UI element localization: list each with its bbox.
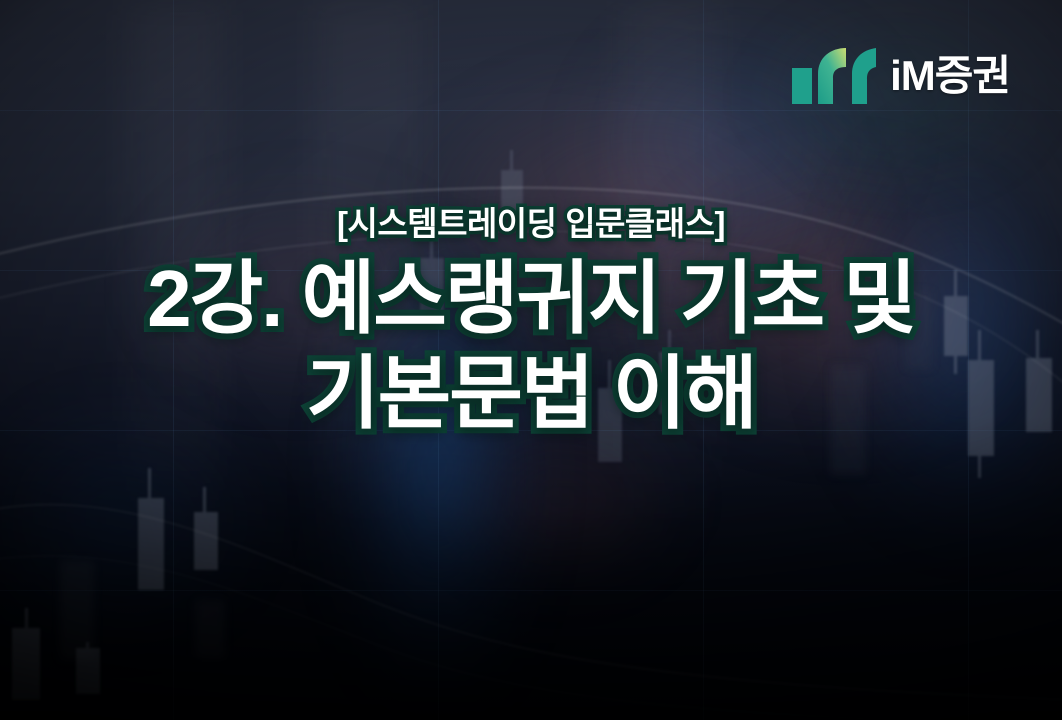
im-securities-logo-mark-icon (792, 48, 876, 104)
brand-wordmark: iM증권 (890, 55, 1010, 97)
lesson-headline: 2강. 예스랭귀지 기초 및 기본문법 이해 (0, 252, 1062, 441)
course-series-eyebrow: [시스템트레이딩 입문클래스] (0, 206, 1062, 242)
brand-logo: iM증권 (792, 48, 1010, 104)
lesson-headline-line-1: 2강. 예스랭귀지 기초 및 (0, 252, 1062, 346)
title-card-canvas: iM증권 [시스템트레이딩 입문클래스] 2강. 예스랭귀지 기초 및 기본문법… (0, 0, 1062, 720)
title-block: [시스템트레이딩 입문클래스] 2강. 예스랭귀지 기초 및 기본문법 이해 (0, 206, 1062, 441)
lesson-headline-line-2: 기본문법 이해 (0, 347, 1062, 441)
